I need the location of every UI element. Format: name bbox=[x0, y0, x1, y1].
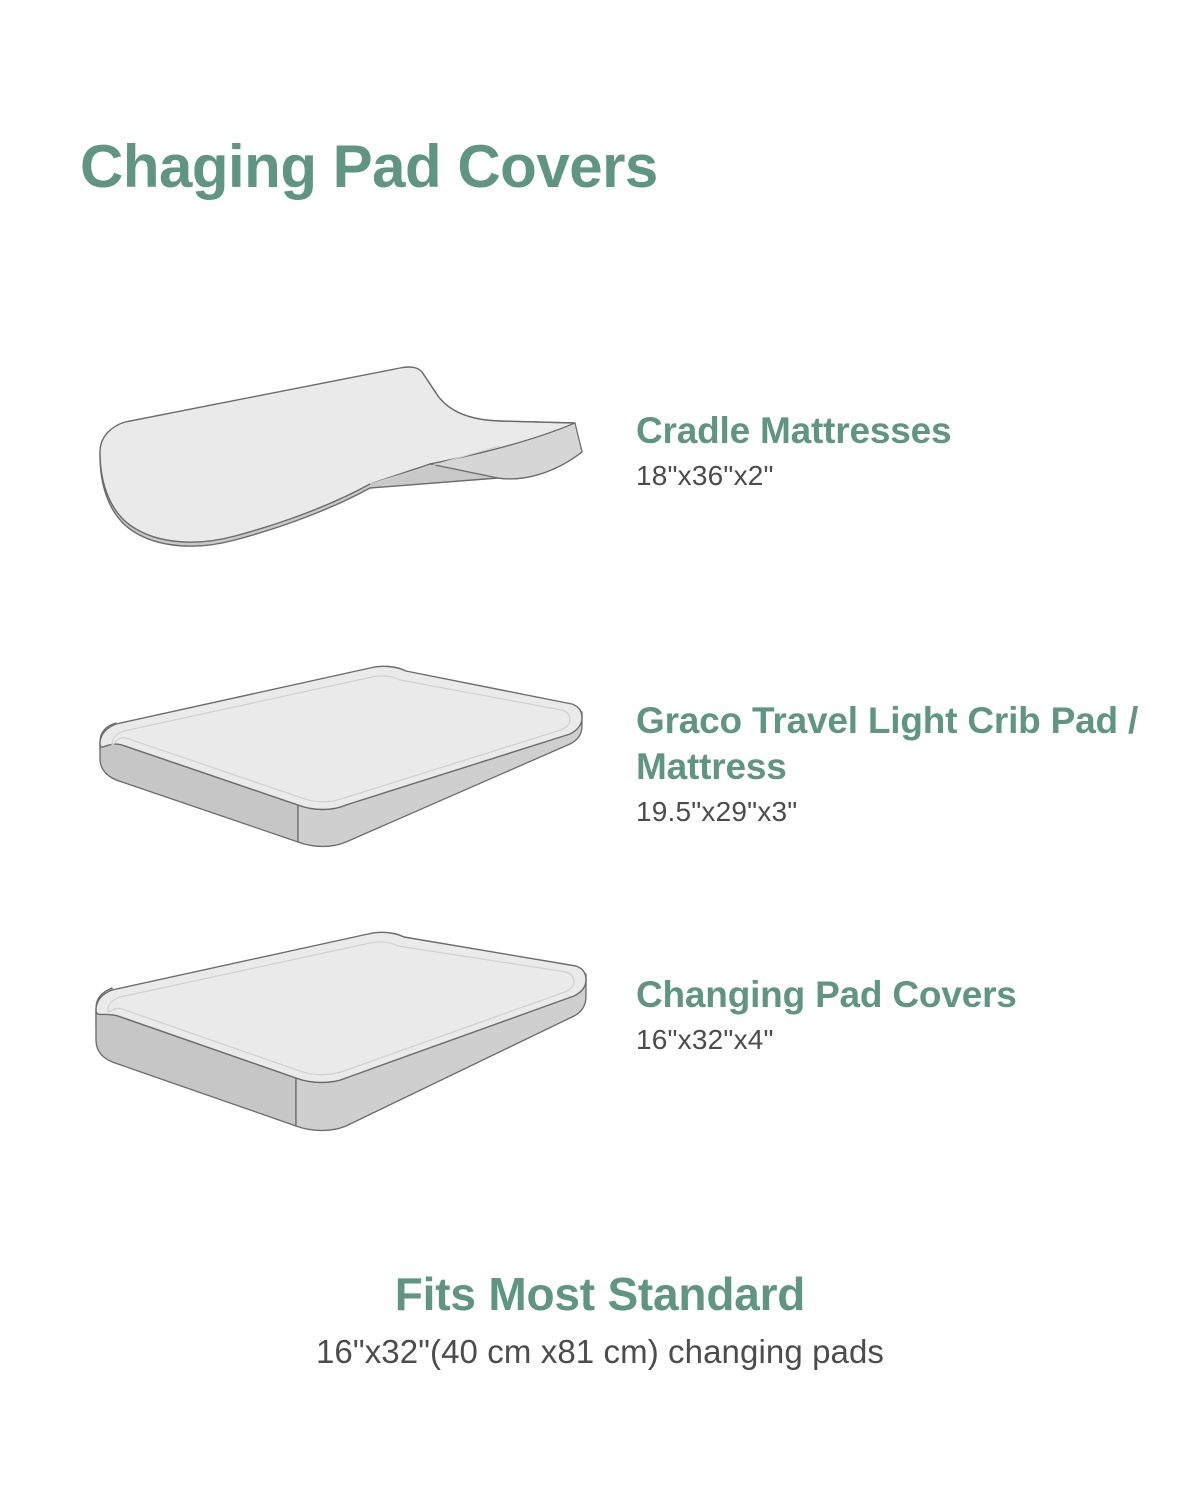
product-row: Changing Pad Covers 16"x32"x4" bbox=[0, 930, 1200, 1170]
product-name: Cradle Mattresses bbox=[636, 408, 1166, 454]
infographic-page: Chaging Pad Covers Cradle Mattresses 18"… bbox=[0, 0, 1200, 1500]
product-name: Changing Pad Covers bbox=[636, 972, 1166, 1018]
product-dimensions: 18"x36"x2" bbox=[636, 460, 1166, 492]
product-text-block: Cradle Mattresses 18"x36"x2" bbox=[636, 408, 1166, 492]
page-title: Chaging Pad Covers bbox=[80, 135, 658, 198]
product-row: Cradle Mattresses 18"x36"x2" bbox=[0, 360, 1200, 610]
product-text-block: Graco Travel Light Crib Pad / Mattress 1… bbox=[636, 698, 1166, 828]
product-row: Graco Travel Light Crib Pad / Mattress 1… bbox=[0, 660, 1200, 900]
footer-block: Fits Most Standard 16"x32"(40 cm x81 cm)… bbox=[0, 1268, 1200, 1371]
contoured-changing-pad-icon bbox=[70, 360, 610, 600]
flat-crib-mattress-icon bbox=[70, 660, 610, 900]
product-name: Graco Travel Light Crib Pad / Mattress bbox=[636, 698, 1166, 790]
footer-headline: Fits Most Standard bbox=[0, 1268, 1200, 1321]
thick-changing-pad-icon bbox=[70, 930, 610, 1170]
footer-subtext: 16"x32"(40 cm x81 cm) changing pads bbox=[0, 1333, 1200, 1371]
product-text-block: Changing Pad Covers 16"x32"x4" bbox=[636, 972, 1166, 1056]
product-dimensions: 16"x32"x4" bbox=[636, 1024, 1166, 1056]
product-dimensions: 19.5"x29"x3" bbox=[636, 796, 1166, 828]
